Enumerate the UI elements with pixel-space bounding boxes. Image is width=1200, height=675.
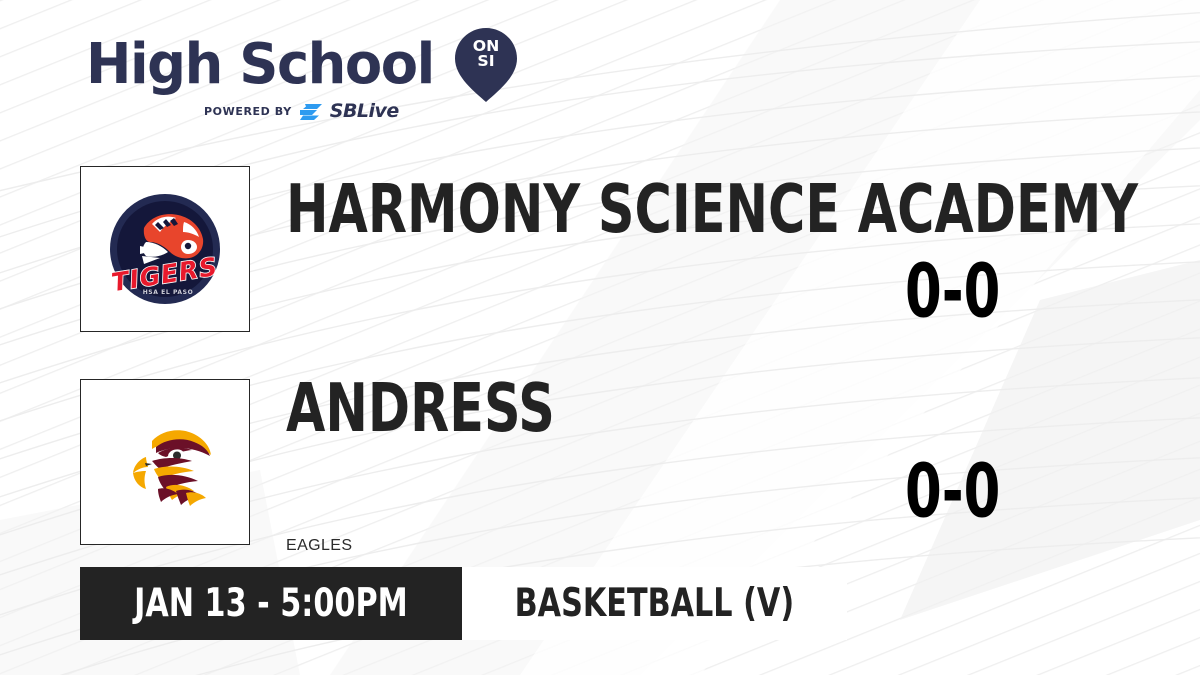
away-team-name: HARMONY SCIENCE ACADEMY [286, 176, 1138, 243]
svg-text:HSA EL PASO: HSA EL PASO [143, 289, 194, 296]
powered-by-sblive: POWERED BY SBLive [204, 102, 516, 121]
game-datetime-text: JAN 13 - 5:00PM [134, 584, 408, 624]
game-sport-text: BASKETBALL (V) [514, 584, 794, 624]
site-header: High School ON SI POWERED BY SBLive [86, 34, 516, 134]
high-school-on-si-logo[interactable]: High School ON SI [86, 34, 516, 96]
tigers-logo-icon: TIGERS HSA EL PASO [100, 184, 230, 314]
away-team-record: 0-0 [905, 255, 1000, 329]
location-pin-icon: ON SI [455, 28, 517, 102]
game-datetime-block: JAN 13 - 5:00PM [80, 567, 462, 640]
home-team-logo-tile[interactable] [80, 379, 250, 545]
eagles-logo-icon [100, 397, 230, 527]
sblive-wordmark: SBLive [330, 102, 399, 121]
away-team-logo-tile[interactable]: TIGERS HSA EL PASO [80, 166, 250, 332]
pin-label-group: ON SI [455, 39, 517, 69]
home-team-name: ANDRESS [286, 375, 555, 442]
pin-label-si: SI [453, 54, 518, 69]
home-team-mascot: EAGLES [286, 537, 352, 555]
sblive-s-mark-icon [300, 104, 322, 120]
wordmark-text: High School [86, 37, 434, 93]
powered-by-label: POWERED BY [204, 105, 292, 118]
game-sport-block: BASKETBALL (V) [462, 567, 847, 640]
game-info-banner: JAN 13 - 5:00PM BASKETBALL (V) [80, 567, 847, 640]
home-team-record: 0-0 [905, 455, 1000, 529]
